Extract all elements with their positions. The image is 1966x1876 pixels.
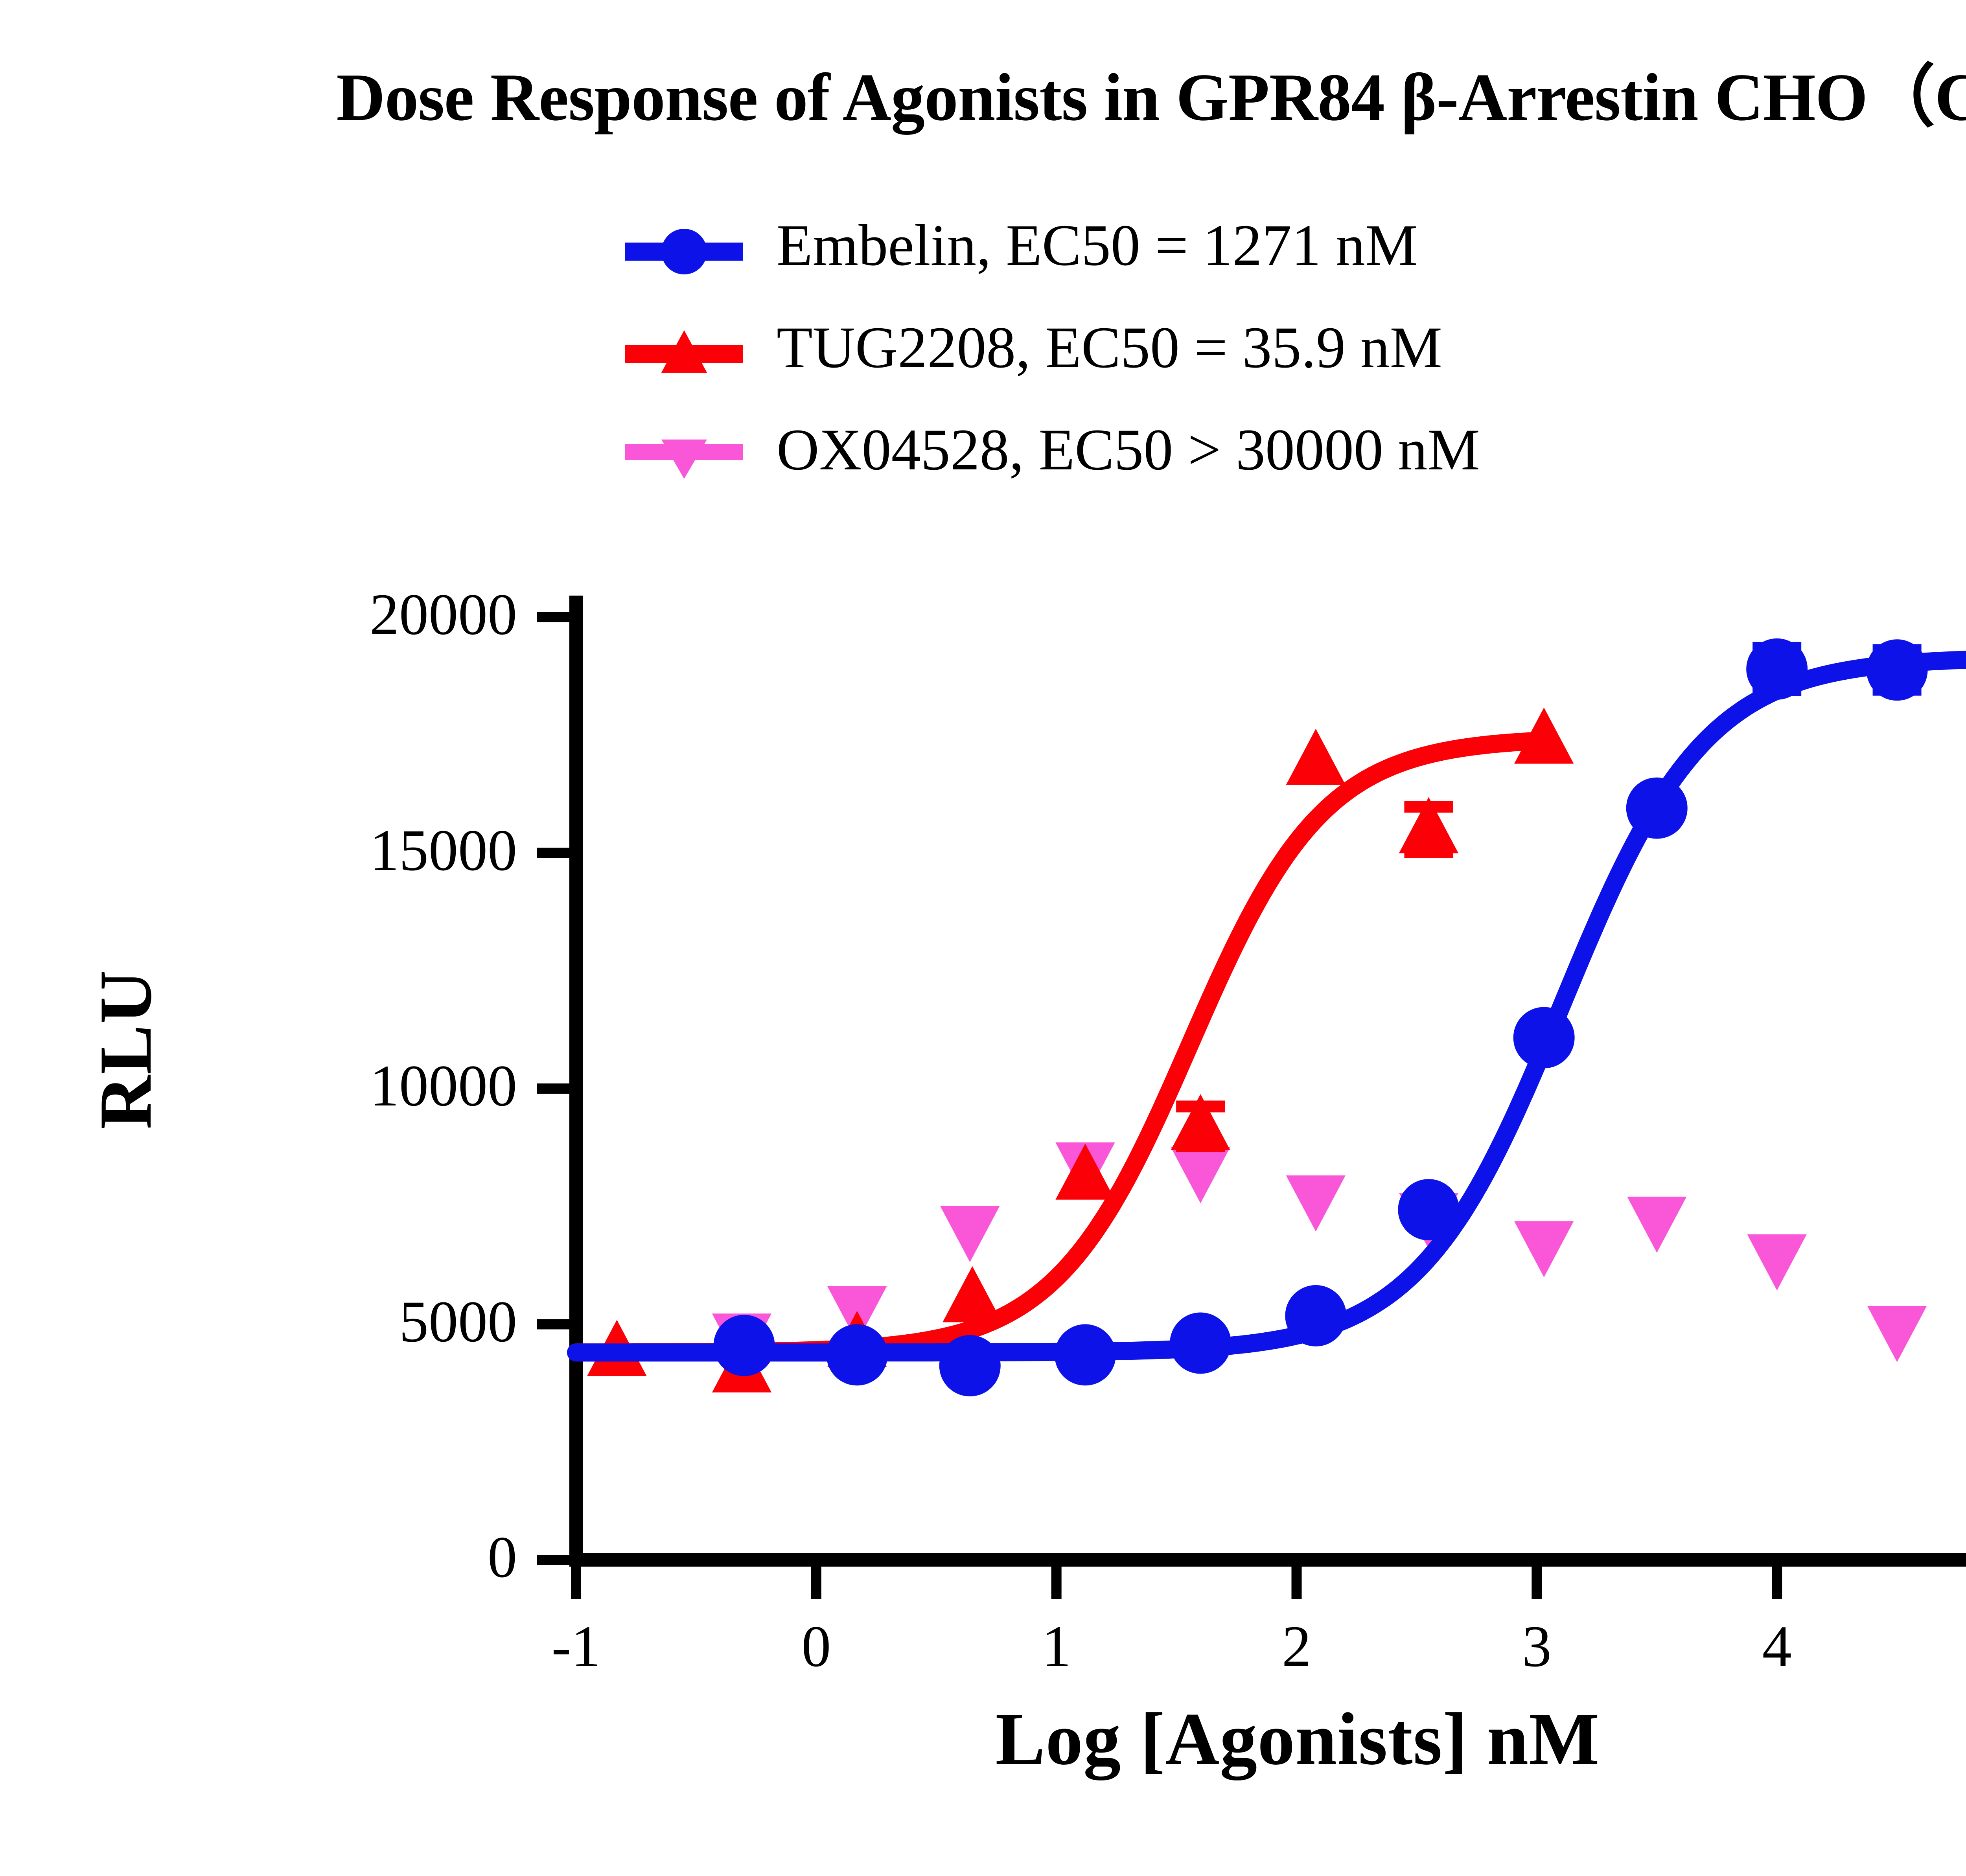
data-point-triangle-down	[1627, 1197, 1686, 1253]
y-tick-label: 10000	[187, 1056, 517, 1115]
data-point-circle	[1513, 1007, 1575, 1069]
x-tick-label: 4	[1718, 1617, 1836, 1676]
y-tick-label: 5000	[187, 1292, 517, 1351]
x-tick-label: 1	[998, 1617, 1116, 1676]
y-tick-label: 0	[187, 1528, 517, 1587]
data-point-triangle-down	[1171, 1147, 1230, 1203]
y-tick-label: 15000	[187, 821, 517, 880]
series-tug2208	[576, 708, 1574, 1392]
x-tick-label: 3	[1478, 1617, 1596, 1676]
data-point-circle	[1746, 638, 1808, 700]
data-point-triangle-up	[943, 1266, 1002, 1322]
data-point-circle	[939, 1335, 1001, 1396]
data-point-circle	[827, 1324, 888, 1385]
series-group	[576, 638, 1966, 1396]
plot-area	[0, 0, 1966, 1876]
data-point-triangle-down	[940, 1206, 1000, 1262]
data-point-triangle-up	[1286, 729, 1346, 785]
data-point-circle	[1867, 639, 1928, 701]
figure-root: Dose Response of Agonists in GPR84 β-Arr…	[0, 0, 1966, 1876]
y-axis-title: RLU	[83, 872, 169, 1226]
data-point-circle	[1170, 1312, 1231, 1374]
y-tick-label: 20000	[187, 585, 517, 644]
data-point-triangle-down	[1286, 1175, 1346, 1232]
data-point-circle	[1055, 1324, 1116, 1385]
data-point-circle	[1626, 778, 1688, 839]
series-embelin	[576, 638, 1966, 1396]
data-point-circle	[1285, 1285, 1346, 1346]
fit-curve-tug2208	[576, 740, 1550, 1352]
axis-group	[537, 596, 1966, 1599]
x-tick-label: 5	[1958, 1617, 1966, 1676]
x-tick-label: -1	[517, 1617, 635, 1676]
x-tick-label: 0	[757, 1617, 875, 1676]
data-point-circle	[714, 1315, 775, 1376]
data-point-triangle-down	[1514, 1221, 1574, 1277]
data-point-circle	[1398, 1179, 1459, 1240]
data-point-triangle-down	[1867, 1306, 1927, 1362]
x-tick-label: 2	[1238, 1617, 1356, 1676]
data-point-triangle-down	[1747, 1234, 1807, 1291]
x-axis-title: Log [Agonists] nM	[576, 1696, 1966, 1782]
